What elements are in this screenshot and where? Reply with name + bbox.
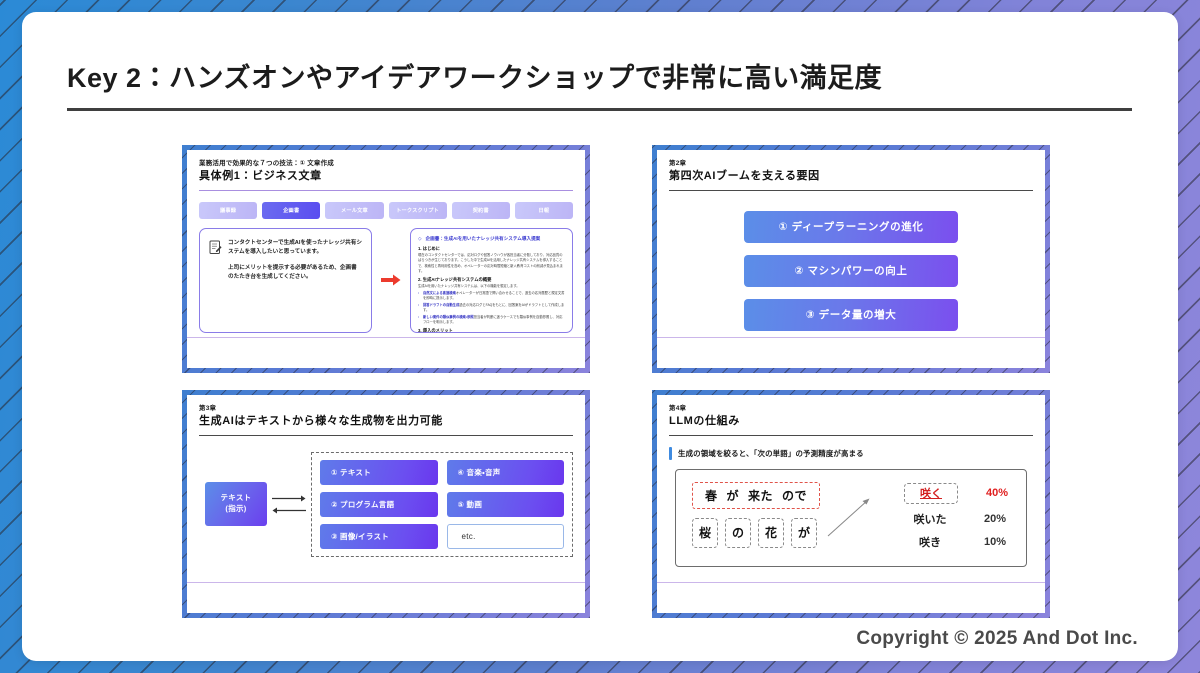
memo-pencil-icon bbox=[209, 240, 222, 322]
output-doc-title-text: 企画書：生成AIを用いたナレッジ共有システム導入提案 bbox=[426, 236, 541, 242]
slide-3-bottom-divider bbox=[187, 582, 585, 583]
slide-4-heading: LLMの仕組み bbox=[669, 414, 1033, 429]
flow-arrow-icon bbox=[380, 228, 402, 333]
output-chip-audio: ④ 音楽・音声 bbox=[447, 460, 565, 485]
token-box: が bbox=[791, 518, 817, 548]
prediction-row: 咲き 10% bbox=[904, 534, 1008, 550]
output-doc-title: ◇ 企画書：生成AIを用いたナレッジ共有システム導入提案 bbox=[418, 236, 565, 242]
doc-bullet-icon: ◇ bbox=[418, 236, 422, 242]
doc-list-item: 回答ドラフトの自動生成過去の対応ログとFAQをもとに、回答案をAIがドラフトとし… bbox=[418, 303, 565, 313]
tab-nippo[interactable]: 日報 bbox=[515, 202, 573, 219]
page-title: Key 2：ハンズオンやアイデアワークショップで非常に高い満足度 bbox=[67, 56, 1132, 95]
output-types-group: ① テキスト ④ 音楽・音声 ② プログラム言語 ⑤ 動画 ③ 画像/イラスト … bbox=[311, 452, 573, 557]
slide-4-body: 第4章 LLMの仕組み 生成の領域を絞ると、「次の単語」の予測精度が高まる 春 … bbox=[657, 395, 1045, 613]
context-token: ので bbox=[782, 487, 807, 504]
slide-thumbnail-4[interactable]: 第4章 LLMの仕組み 生成の領域を絞ると、「次の単語」の予測精度が高まる 春 … bbox=[652, 390, 1050, 618]
factor-bar-3: ③ データ量の増大 bbox=[744, 299, 958, 331]
slide-3-eyebrow: 第3章 bbox=[199, 405, 573, 413]
slide-3-heading: 生成AIはテキストから様々な生成物を出力可能 bbox=[199, 414, 573, 429]
prediction-arrow-icon bbox=[826, 496, 872, 543]
token-box: 花 bbox=[758, 518, 784, 548]
prediction-probability: 20% bbox=[970, 513, 1006, 525]
prompt-panel: コンタクトセンターで生成AIを使ったナレッジ共有システムを導入したいと思っていま… bbox=[199, 228, 372, 333]
prediction-row: 咲いた 20% bbox=[904, 511, 1008, 527]
copyright-footer: Copyright © 2025 And Dot Inc. bbox=[856, 628, 1138, 650]
doc-list-item: 新しい案件の類似事例の検索・参照担当者が判断に迷うケースでも類似事例を自動参照し… bbox=[418, 315, 565, 325]
slide-1-rule bbox=[199, 190, 573, 191]
output-chip-video: ⑤ 動画 bbox=[447, 492, 565, 517]
slide-1-panels: コンタクトセンターで生成AIを使ったナレッジ共有システムを導入したいと思っていま… bbox=[199, 228, 573, 333]
prediction-word: 咲く bbox=[904, 483, 958, 504]
note-text: 生成の領域を絞ると、「次の単語」の予測精度が高まる bbox=[678, 448, 864, 459]
slide-thumbnail-2[interactable]: 第2章 第四次AIブームを支える要因 ① ディープラーニングの進化 ② マシンパ… bbox=[652, 145, 1050, 373]
slide-3-rule bbox=[199, 435, 573, 436]
context-token: 来た bbox=[748, 487, 773, 504]
doc-section-body: 生成AIを用いたナレッジ共有システムは、以下の機能を想定します。 bbox=[418, 284, 565, 289]
token-box: の bbox=[725, 518, 751, 548]
doc-list-label: 自然文による高速検索 bbox=[423, 291, 456, 295]
prediction-word: 咲いた bbox=[904, 511, 956, 527]
doc-list-label: 回答ドラフトの自動生成 bbox=[423, 303, 459, 307]
slide-3-diagram: テキスト (指示) ① テキスト bbox=[199, 452, 573, 557]
prediction-probability: 10% bbox=[970, 536, 1006, 548]
tab-talk-script[interactable]: トークスクリプト bbox=[389, 202, 447, 219]
prediction-word: 咲き bbox=[904, 534, 956, 550]
slide-4-note: 生成の領域を絞ると、「次の単語」の予測精度が高まる bbox=[669, 447, 1033, 460]
output-chip-code: ② プログラム言語 bbox=[320, 492, 438, 517]
output-chip-text: ① テキスト bbox=[320, 460, 438, 485]
context-phrase-box: 春 が 来た ので bbox=[692, 482, 820, 509]
slide-2-factor-list: ① ディープラーニングの進化 ② マシンパワーの向上 ③ データ量の増大 bbox=[669, 211, 1033, 331]
input-node: テキスト (指示) bbox=[205, 482, 267, 526]
presentation-page: Key 2：ハンズオンやアイデアワークショップで非常に高い満足度 業務活用で効果… bbox=[0, 0, 1200, 673]
doc-section-heading: 1. はじめに bbox=[418, 246, 565, 252]
bidirectional-arrow-icon bbox=[267, 494, 311, 515]
tab-gijiroku[interactable]: 議事録 bbox=[199, 202, 257, 219]
slide-1-bottom-divider bbox=[187, 337, 585, 338]
slide-4-eyebrow: 第4章 bbox=[669, 405, 1033, 413]
slide-thumbnail-1[interactable]: 業務活用で効果的な７つの技法：① 文章作成 具体例1：ビジネス文章 議事録 企画… bbox=[182, 145, 590, 373]
slide-1-heading: 具体例1：ビジネス文章 bbox=[199, 169, 573, 184]
output-chip-etc: etc. bbox=[447, 524, 565, 549]
llm-prediction-diagram: 春 が 来た ので 桜 の 花 が bbox=[675, 469, 1027, 567]
context-token: が bbox=[727, 487, 740, 504]
doc-list-label: 新しい案件の類似事例の検索・参照 bbox=[423, 315, 474, 319]
context-token: 春 bbox=[705, 487, 718, 504]
slide-4-rule bbox=[669, 435, 1033, 436]
doc-section-body: 現在のコンタクトセンターでは、応対ログや回答ノウハウが各担当者に分散しており、対… bbox=[418, 253, 565, 273]
tab-keiyakusho[interactable]: 契約書 bbox=[452, 202, 510, 219]
output-chip-image: ③ 画像/イラスト bbox=[320, 524, 438, 549]
doc-list-item: 自然文による高速検索オペレーターが日常語で問い合わせることで、過去の応対履歴と規… bbox=[418, 291, 565, 301]
slide-thumbnail-3[interactable]: 第3章 生成AIはテキストから様々な生成物を出力可能 テキスト (指示) bbox=[182, 390, 590, 618]
doc-section-heading: 3. 導入のメリット bbox=[418, 328, 565, 333]
input-node-line-1: テキスト bbox=[221, 493, 252, 504]
tab-kikakusho[interactable]: 企画書 bbox=[262, 202, 320, 219]
prediction-row: 咲く 40% bbox=[904, 483, 1008, 504]
slide-2-rule bbox=[669, 190, 1033, 191]
input-node-line-2: (指示) bbox=[225, 504, 246, 515]
slide-4-bottom-divider bbox=[657, 582, 1045, 583]
content-card: Key 2：ハンズオンやアイデアワークショップで非常に高い満足度 業務活用で効果… bbox=[22, 12, 1178, 661]
slide-3-body: 第3章 生成AIはテキストから様々な生成物を出力可能 テキスト (指示) bbox=[187, 395, 585, 613]
slide-2-heading: 第四次AIブームを支える要因 bbox=[669, 169, 1033, 184]
output-document-panel: ◇ 企画書：生成AIを用いたナレッジ共有システム導入提案 1. はじめに 現在の… bbox=[410, 228, 573, 333]
doc-section-heading: 2. 生成AIナレッジ共有システムの概要 bbox=[418, 277, 565, 283]
token-box: 桜 bbox=[692, 518, 718, 548]
slide-1-body: 業務活用で効果的な７つの技法：① 文章作成 具体例1：ビジネス文章 議事録 企画… bbox=[187, 150, 585, 368]
factor-bar-2: ② マシンパワーの向上 bbox=[744, 255, 958, 287]
prompt-paragraph-2: 上司にメリットを提示する必要があるため、企画書のたたき台を生成してください。 bbox=[228, 264, 362, 283]
title-divider bbox=[67, 108, 1132, 111]
factor-bar-1: ① ディープラーニングの進化 bbox=[744, 211, 958, 243]
slide-1-tab-row: 議事録 企画書 メール文章 トークスクリプト 契約書 日報 bbox=[199, 202, 573, 219]
note-accent-bar bbox=[669, 447, 672, 460]
prediction-probability: 40% bbox=[972, 487, 1008, 499]
slide-1-eyebrow: 業務活用で効果的な７つの技法：① 文章作成 bbox=[199, 160, 573, 168]
slide-2-body: 第2章 第四次AIブームを支える要因 ① ディープラーニングの進化 ② マシンパ… bbox=[657, 150, 1045, 368]
prediction-list: 咲く 40% 咲いた 20% 咲き 10% bbox=[904, 482, 1008, 557]
slide-2-bottom-divider bbox=[657, 337, 1045, 338]
prompt-paragraph-1: コンタクトセンターで生成AIを使ったナレッジ共有システムを導入したいと思っていま… bbox=[228, 239, 362, 258]
prompt-text: コンタクトセンターで生成AIを使ったナレッジ共有システムを導入したいと思っていま… bbox=[228, 239, 362, 322]
tab-mail[interactable]: メール文章 bbox=[325, 202, 383, 219]
slide-2-eyebrow: 第2章 bbox=[669, 160, 1033, 168]
